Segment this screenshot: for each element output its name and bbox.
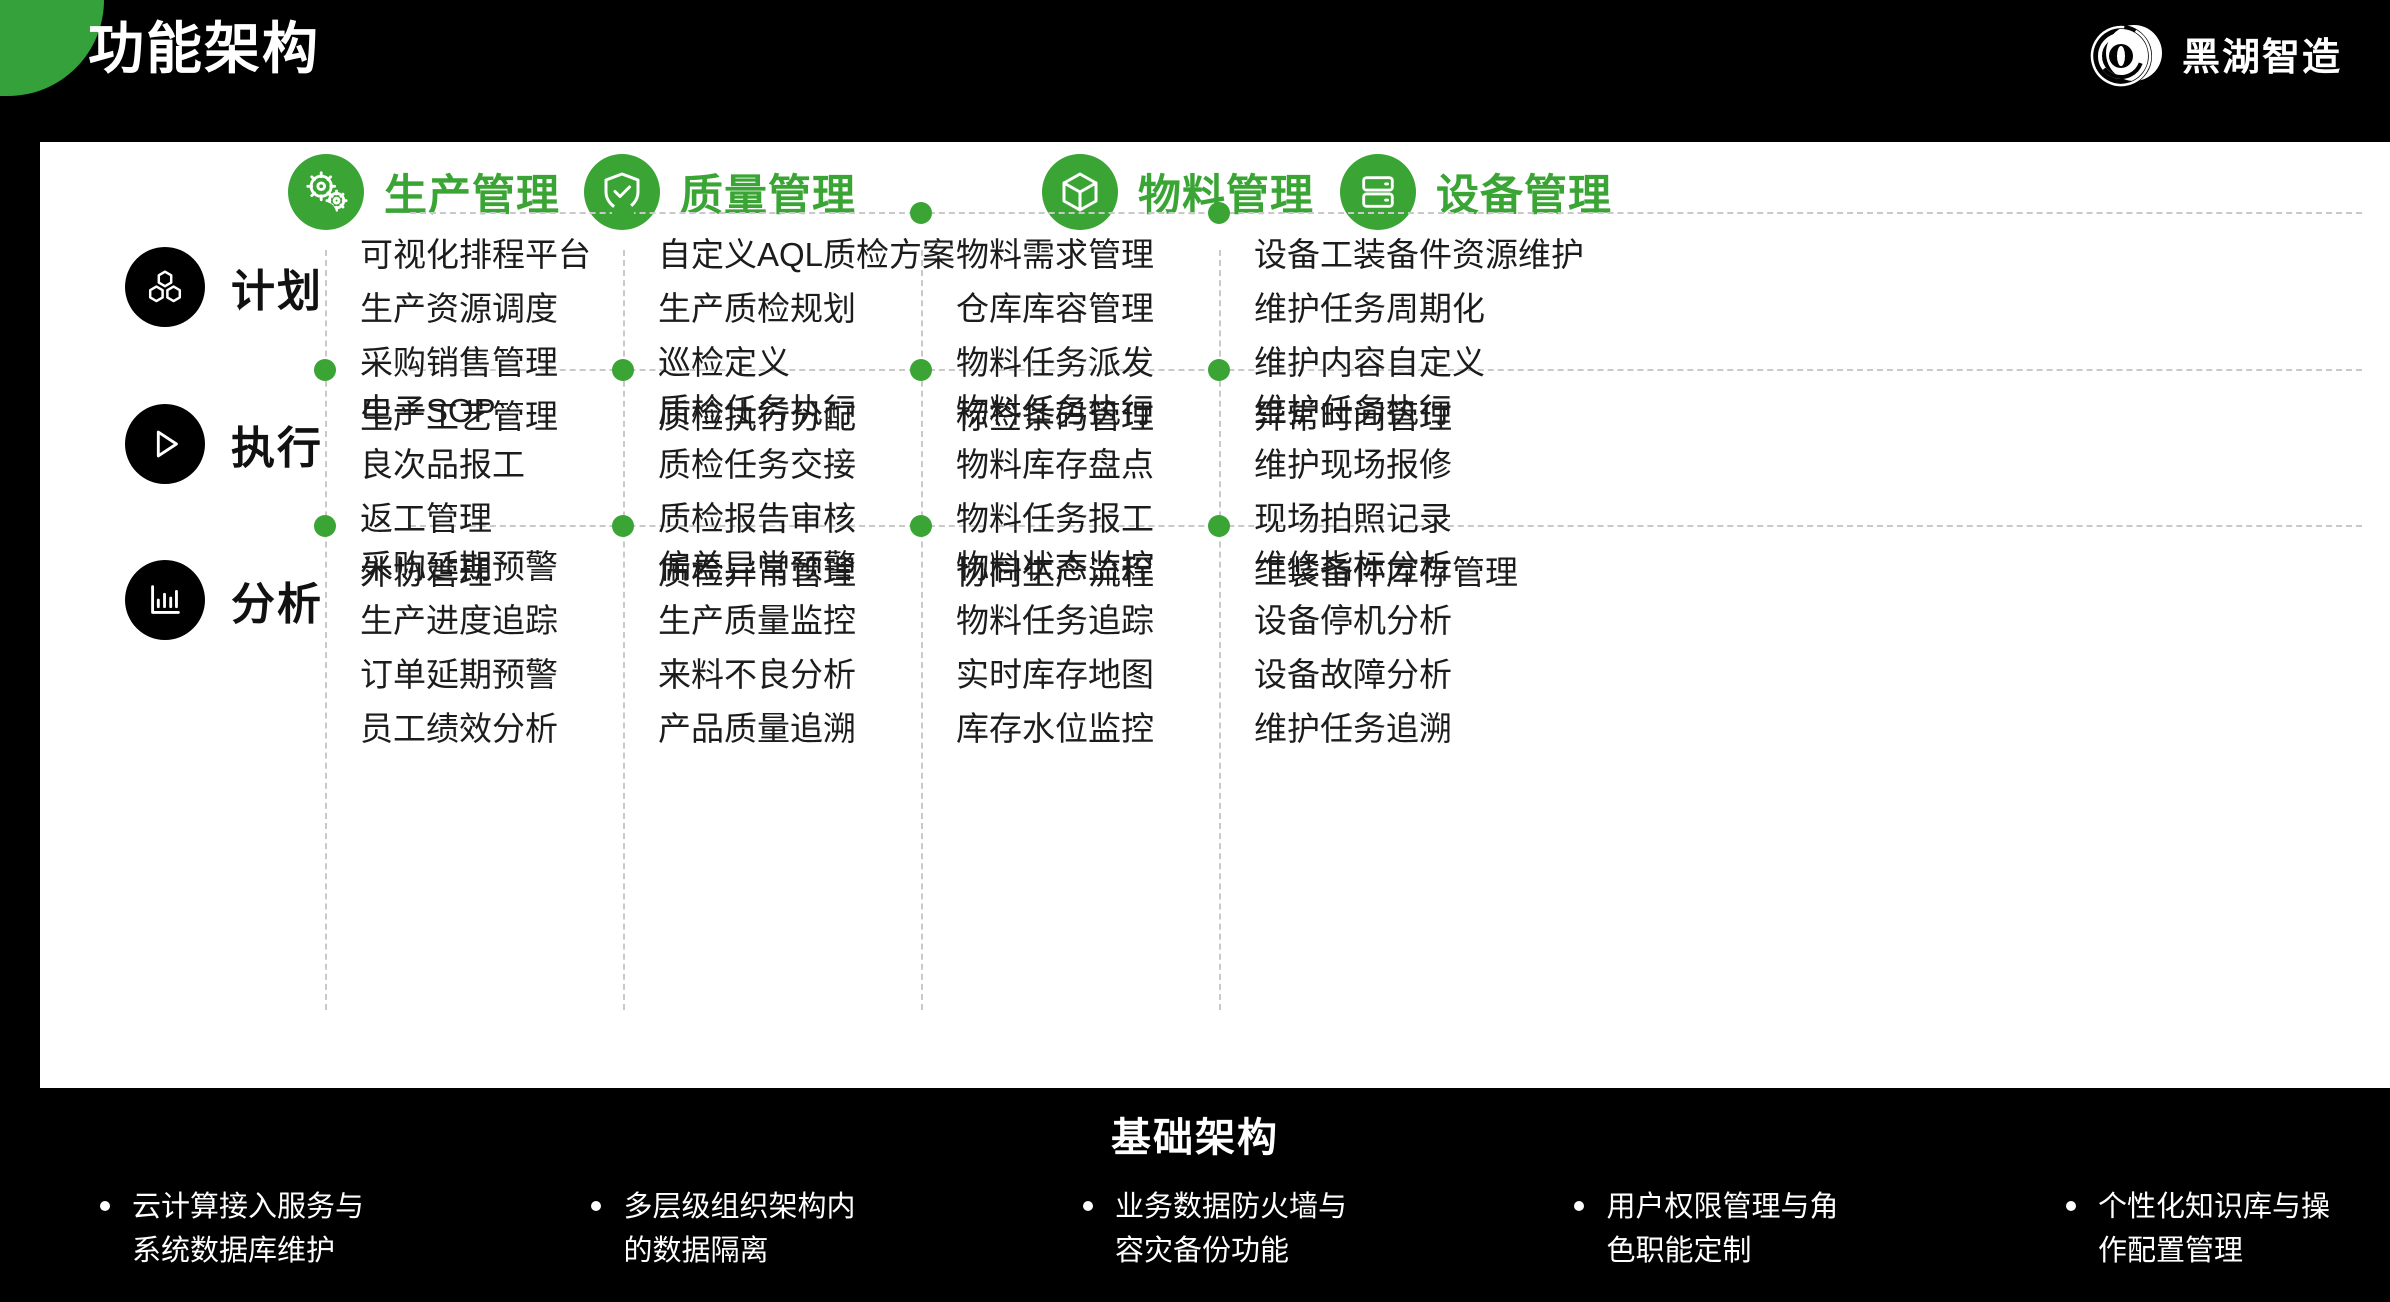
cell-analysis-production: 采购延期预警 生产进度追踪 订单延期预警 员工绩效分析: [360, 540, 558, 756]
cell-item[interactable]: 生产质检规划: [658, 282, 955, 336]
matrix-panel: 生产管理 质量管理: [40, 142, 2390, 1088]
cell-item[interactable]: 订单延期预警: [360, 648, 558, 702]
footer-item-text: 云计算接入服务与 系统数据库维护: [132, 1185, 364, 1273]
brand-name: 黑湖智造: [2182, 26, 2342, 81]
cell-item[interactable]: 现场拍照记录: [1254, 492, 1518, 546]
grid-node-dot: [1208, 202, 1230, 224]
cell-item[interactable]: 维护现场报修: [1254, 438, 1518, 492]
cell-item[interactable]: 巡检定义: [658, 336, 955, 390]
grid-node-dot: [1208, 359, 1230, 381]
cell-item[interactable]: 质检任务执行: [658, 384, 856, 438]
row-label-text: 执行: [231, 412, 323, 476]
cell-item[interactable]: 物料库存盘点: [956, 438, 1154, 492]
cell-item[interactable]: 设备故障分析: [1254, 648, 1452, 702]
footer-item[interactable]: 多层级组织架构内 的数据隔离: [591, 1185, 855, 1273]
row-label-plan[interactable]: 计划: [125, 247, 323, 327]
grid-node-dot: [314, 359, 336, 381]
grid-hline: [410, 212, 2362, 214]
cell-item[interactable]: 来料不良分析: [658, 648, 856, 702]
cell-item[interactable]: 质检任务交接: [658, 438, 856, 492]
grid-node-dot: [910, 515, 932, 537]
cell-item[interactable]: 可视化排程平台: [360, 228, 591, 282]
cell-analysis-quality: 偏差异常预警 生产质量监控 来料不良分析 产品质量追溯: [658, 540, 856, 756]
cell-analysis-equipment: 维修指标分析 设备停机分析 设备故障分析 维护任务追溯: [1254, 540, 1452, 756]
bullet-icon: [1083, 1201, 1093, 1211]
cell-item[interactable]: 维护内容自定义: [1254, 336, 1584, 390]
concentric-circles-logo-icon: [2090, 22, 2162, 84]
cell-item[interactable]: 自定义AQL质检方案: [658, 228, 955, 282]
bullet-icon: [2066, 1201, 2076, 1211]
bar-chart-icon: [125, 560, 205, 640]
cell-item[interactable]: 员工绩效分析: [360, 702, 558, 756]
footer-item[interactable]: 云计算接入服务与 系统数据库维护: [100, 1185, 364, 1273]
hexagon-cluster-icon: [125, 247, 205, 327]
page-title: 功能架构: [88, 14, 320, 84]
row-label-execute[interactable]: 执行: [125, 404, 323, 484]
grid-node-dot: [314, 202, 336, 224]
footer-item[interactable]: 用户权限管理与角 色职能定制: [1574, 1185, 1838, 1273]
cell-item[interactable]: 偏差异常预警: [658, 540, 856, 594]
footer-item-text: 用户权限管理与角 色职能定制: [1606, 1185, 1838, 1273]
footer-item[interactable]: 业务数据防火墙与 容灾备份功能: [1083, 1185, 1347, 1273]
cell-item[interactable]: 电子SOP: [360, 384, 525, 438]
cell-item[interactable]: 物料任务追踪: [956, 594, 1154, 648]
cell-item[interactable]: 物料任务报工: [956, 492, 1154, 546]
footer-item-text: 个性化知识库与操 作配置管理: [2098, 1185, 2330, 1273]
cell-item[interactable]: 仓库库容管理: [956, 282, 1154, 336]
server-stack-icon: [1340, 154, 1416, 230]
footer-item-text: 业务数据防火墙与 容灾备份功能: [1115, 1185, 1347, 1273]
cell-item[interactable]: 生产资源调度: [360, 282, 591, 336]
cell-item[interactable]: 采购销售管理: [360, 336, 591, 390]
bullet-icon: [100, 1201, 110, 1211]
grid-node-dot: [910, 202, 932, 224]
cell-item[interactable]: 维护任务追溯: [1254, 702, 1452, 756]
bullet-icon: [591, 1201, 601, 1211]
cell-item[interactable]: 库存水位监控: [956, 702, 1154, 756]
cell-item[interactable]: 返工管理: [360, 492, 525, 546]
cell-item[interactable]: 产品质量追溯: [658, 702, 856, 756]
grid-node-dot: [612, 515, 634, 537]
cell-item[interactable]: 质检报告审核: [658, 492, 856, 546]
cell-item[interactable]: 物料任务派发: [956, 336, 1154, 390]
cell-item[interactable]: 采购延期预警: [360, 540, 558, 594]
grid-node-dot: [612, 359, 634, 381]
cell-item[interactable]: 设备停机分析: [1254, 594, 1452, 648]
cell-analysis-material: 物料状态监控 物料任务追踪 实时库存地图 库存水位监控: [956, 540, 1154, 756]
grid-node-dot: [314, 515, 336, 537]
row-label-text: 分析: [231, 568, 323, 632]
row-label-analysis[interactable]: 分析: [125, 560, 323, 640]
cell-item[interactable]: 维修指标分析: [1254, 540, 1452, 594]
column-header-equipment[interactable]: 设备管理: [1340, 154, 1612, 230]
grid-node-dot: [612, 202, 634, 224]
row-label-text: 计划: [231, 255, 323, 319]
cell-item[interactable]: 物料状态监控: [956, 540, 1154, 594]
footer-item[interactable]: 个性化知识库与操 作配置管理: [2066, 1185, 2330, 1273]
footer-title: 基础架构: [0, 1105, 2390, 1163]
cell-item[interactable]: 实时库存地图: [956, 648, 1154, 702]
column-header-material[interactable]: 物料管理: [1042, 154, 1314, 230]
cell-item[interactable]: 良次品报工: [360, 438, 525, 492]
play-icon: [125, 404, 205, 484]
brand-logo: 黑湖智造: [2090, 22, 2342, 84]
footer-item-text: 多层级组织架构内 的数据隔离: [623, 1185, 855, 1273]
cell-item[interactable]: 物料任务执行: [956, 384, 1154, 438]
footer-item-list: 云计算接入服务与 系统数据库维护 多层级组织架构内 的数据隔离 业务数据防火墙与…: [100, 1185, 2330, 1273]
cell-item[interactable]: 生产质量监控: [658, 594, 856, 648]
cell-item[interactable]: 物料需求管理: [956, 228, 1154, 282]
cell-item[interactable]: 设备工装备件资源维护: [1254, 228, 1584, 282]
bullet-icon: [1574, 1201, 1584, 1211]
slide-root: 功能架构 黑湖智造: [0, 0, 2390, 1302]
cell-item[interactable]: 维护任务周期化: [1254, 282, 1584, 336]
cell-item[interactable]: 生产进度追踪: [360, 594, 558, 648]
grid-node-dot: [1208, 515, 1230, 537]
cell-item[interactable]: 维护任务执行: [1254, 384, 1518, 438]
box-cube-icon: [1042, 154, 1118, 230]
